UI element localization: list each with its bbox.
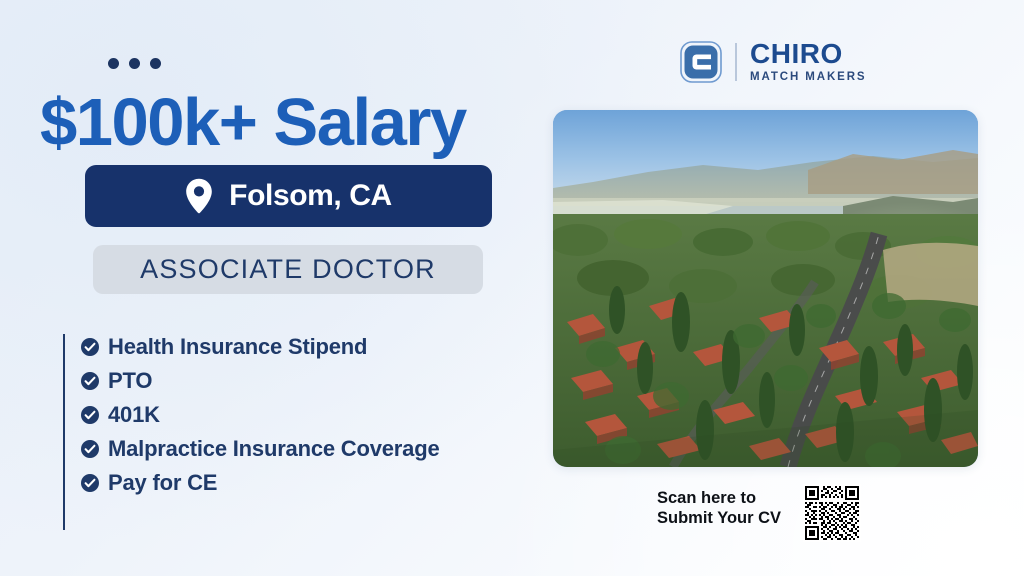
logo-name: CHIRO [750,40,867,68]
check-circle-icon [81,338,99,356]
benefit-label: Health Insurance Stipend [108,334,367,360]
list-item: Pay for CE [81,466,439,500]
location-label: Folsom, CA [229,179,392,213]
scan-line-1: Scan here to [657,488,781,508]
qr-code-icon[interactable] [803,484,861,542]
decorative-dots [108,58,161,69]
scan-line-2: Submit Your CV [657,508,781,528]
location-badge: Folsom, CA [85,165,492,227]
brand-logo: CHIRO MATCH MAKERS [680,40,867,83]
benefit-label: 401K [108,402,160,428]
list-item: Health Insurance Stipend [81,330,439,364]
role-label: ASSOCIATE DOCTOR [140,254,436,285]
list-item: 401K [81,398,439,432]
benefits-list: Health Insurance Stipend PTO 401K [63,330,439,500]
logo-tagline: MATCH MAKERS [750,71,867,83]
list-item: PTO [81,364,439,398]
accent-bar [63,334,65,530]
scan-prompt: Scan here to Submit Your CV [657,488,781,528]
salary-headline: $100k+ Salary [40,88,466,158]
check-circle-icon [81,474,99,492]
logo-divider [735,43,737,81]
dot-icon [150,58,161,69]
logo-wordmark: CHIRO MATCH MAKERS [750,40,867,83]
qr-code[interactable] [803,484,861,542]
aerial-suburb-illustration [553,110,978,467]
neighborhood-photo [553,110,978,467]
benefit-label: Pay for CE [108,470,217,496]
role-badge: ASSOCIATE DOCTOR [93,245,483,294]
benefits-section: Health Insurance Stipend PTO 401K [63,330,439,500]
check-circle-icon [81,372,99,390]
check-circle-icon [81,406,99,424]
map-pin-icon [185,178,213,214]
benefit-label: Malpractice Insurance Coverage [108,436,439,462]
chiro-c-monogram-icon [680,41,722,83]
list-item: Malpractice Insurance Coverage [81,432,439,466]
dot-icon [108,58,119,69]
check-circle-icon [81,440,99,458]
benefit-label: PTO [108,368,152,394]
dot-icon [129,58,140,69]
job-ad-canvas: $100k+ Salary Folsom, CA ASSOCIATE DOCTO… [0,0,1024,576]
